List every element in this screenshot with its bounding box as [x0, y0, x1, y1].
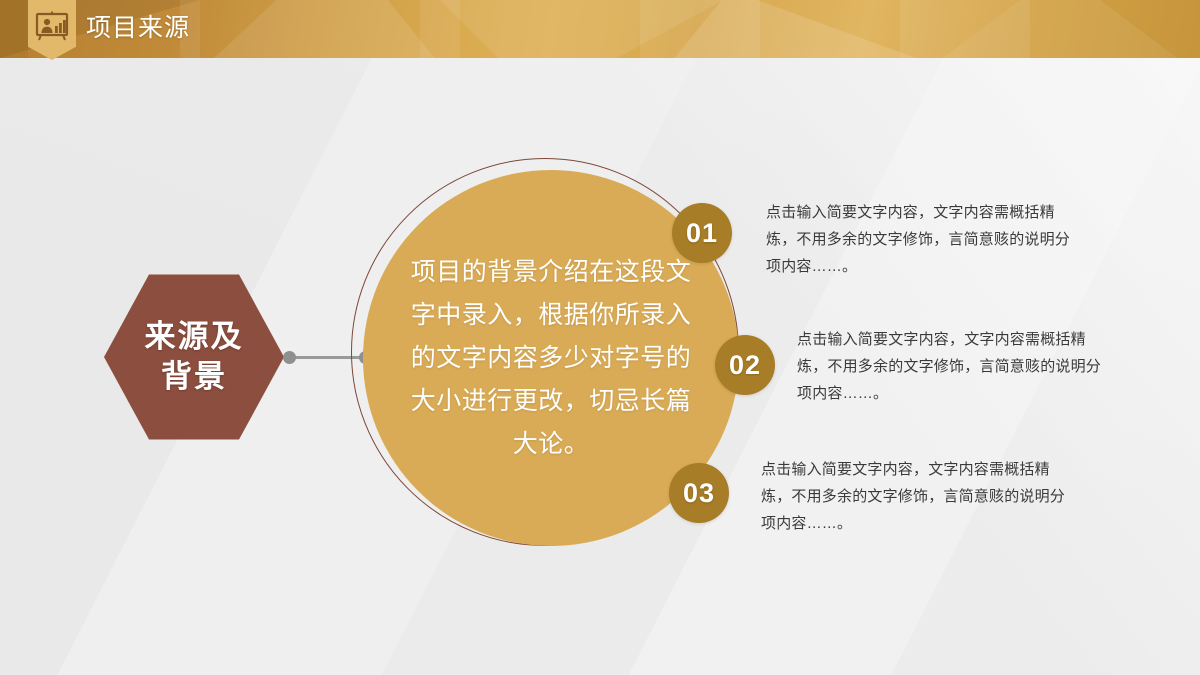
item-description-01: 点击输入简要文字内容，文字内容需概括精炼，不用多余的文字修饰，言简意赅的说明分项…: [766, 199, 1076, 280]
hexagon-label-line2: 背景: [161, 357, 227, 397]
slide-canvas: 项目来源 来源及 背景 项目的背景介绍在这段文字中录入，根据你所录入的文字内容多…: [0, 0, 1200, 675]
number-badge-03[interactable]: 03: [669, 463, 729, 523]
connector-dot-left: [283, 351, 296, 364]
item-description-02: 点击输入简要文字内容，文字内容需概括精炼，不用多余的文字修饰，言简意赅的说明分项…: [797, 326, 1107, 407]
hexagon-label-line1: 来源及: [145, 317, 244, 357]
number-badge-01[interactable]: 01: [672, 203, 732, 263]
item-description-03: 点击输入简要文字内容，文字内容需概括精炼，不用多余的文字修饰，言简意赅的说明分项…: [761, 456, 1071, 537]
number-badge-02[interactable]: 02: [715, 335, 775, 395]
page-title: 项目来源: [86, 12, 190, 44]
header-facet-2: [180, 0, 460, 58]
circle-body-text: 项目的背景介绍在这段文字中录入，根据你所录入的文字内容多少对字号的大小进行更改，…: [401, 251, 701, 466]
header-facet-5: [900, 0, 1200, 58]
presentation-chart-icon-glyph: [35, 11, 69, 43]
